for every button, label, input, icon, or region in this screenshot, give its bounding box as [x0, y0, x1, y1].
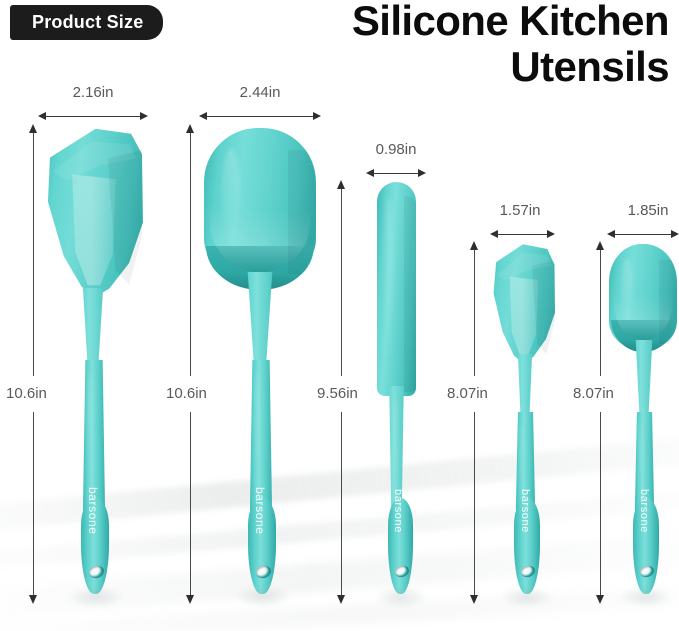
jar-spatula-shadow [404, 196, 416, 392]
width-arrow-large-spatula [38, 112, 148, 121]
length-arrow-head-top-jar-spatula [337, 180, 345, 189]
spoon-gloss-small [621, 258, 633, 324]
length-line-jar-spatula [341, 412, 342, 595]
width-label-small-spatula: 1.57in [477, 202, 563, 219]
width-arrow-large-spoonula [199, 112, 321, 121]
length-line-large-spatula [33, 412, 34, 595]
spoon-gloss-large [222, 148, 240, 244]
handle-gloss-small-spoonula [638, 422, 642, 522]
length-line-small-spoonula [600, 412, 601, 595]
length-arrow-head-top-large-spoonula [186, 124, 194, 133]
product-size-badge: Product Size [10, 5, 163, 40]
width-label-small-spoonula: 1.85in [603, 202, 679, 219]
drop-shadow-small-spatula [499, 586, 555, 608]
spoon-shadow-large [288, 150, 316, 274]
spoon-shadow-small [659, 260, 677, 344]
width-label-jar-spatula: 0.98in [356, 141, 436, 158]
length-line-small-spatula [474, 250, 475, 376]
page-title: Silicone Kitchen Utensils [249, 0, 669, 90]
length-arrow-head-bottom-large-spoonula [186, 595, 194, 604]
width-label-large-spoonula: 2.44in [196, 84, 324, 101]
width-label-large-spatula: 2.16in [32, 84, 154, 101]
length-label-small-spoonula: 8.07in [573, 385, 614, 402]
length-label-large-spatula: 10.6in [6, 385, 47, 402]
drop-shadow-large-spoonula [233, 586, 293, 608]
handle-small-spoonula [628, 340, 660, 416]
width-arrow-small-spoonula [607, 230, 679, 239]
length-line-small-spatula [474, 412, 475, 595]
jar-spatula-gloss [385, 196, 393, 366]
length-arrow-head-bottom-large-spatula [29, 595, 37, 604]
handle-gloss-jar-spatula [393, 400, 397, 526]
length-arrow-head-bottom-jar-spatula [337, 595, 345, 604]
width-arrow-jar-spatula [366, 169, 426, 178]
handle-gloss-small-spatula [519, 422, 523, 522]
handle-gloss-large-spoonula [254, 372, 259, 522]
length-arrow-head-top-small-spoonula [596, 241, 604, 250]
length-line-large-spoonula [190, 412, 191, 595]
length-line-large-spoonula [190, 133, 191, 376]
drop-shadow-jar-spatula [373, 586, 429, 608]
length-arrow-head-bottom-small-spoonula [596, 595, 604, 604]
length-label-small-spatula: 8.07in [447, 385, 488, 402]
length-arrow-head-bottom-small-spatula [470, 595, 478, 604]
length-arrow-head-top-small-spatula [470, 241, 478, 250]
handle-small-spatula [509, 354, 541, 416]
width-arrow-small-spatula [490, 230, 555, 239]
page-title-line-1: Silicone Kitchen [249, 0, 669, 44]
length-label-large-spoonula: 10.6in [166, 385, 207, 402]
length-line-jar-spatula [341, 189, 342, 376]
length-line-large-spatula [33, 133, 34, 376]
length-line-small-spoonula [600, 250, 601, 376]
product-size-badge-label: Product Size [32, 12, 143, 33]
product-size-infographic: Product Size Silicone Kitchen Utensils 2… [0, 0, 679, 631]
length-label-jar-spatula: 9.56in [317, 385, 358, 402]
length-arrow-head-top-large-spatula [29, 124, 37, 133]
drop-shadow-small-spoonula [618, 586, 674, 608]
drop-shadow-large-spatula [66, 586, 126, 608]
handle-gloss-large-spatula [87, 372, 92, 522]
handle-large-spatula [72, 288, 114, 364]
